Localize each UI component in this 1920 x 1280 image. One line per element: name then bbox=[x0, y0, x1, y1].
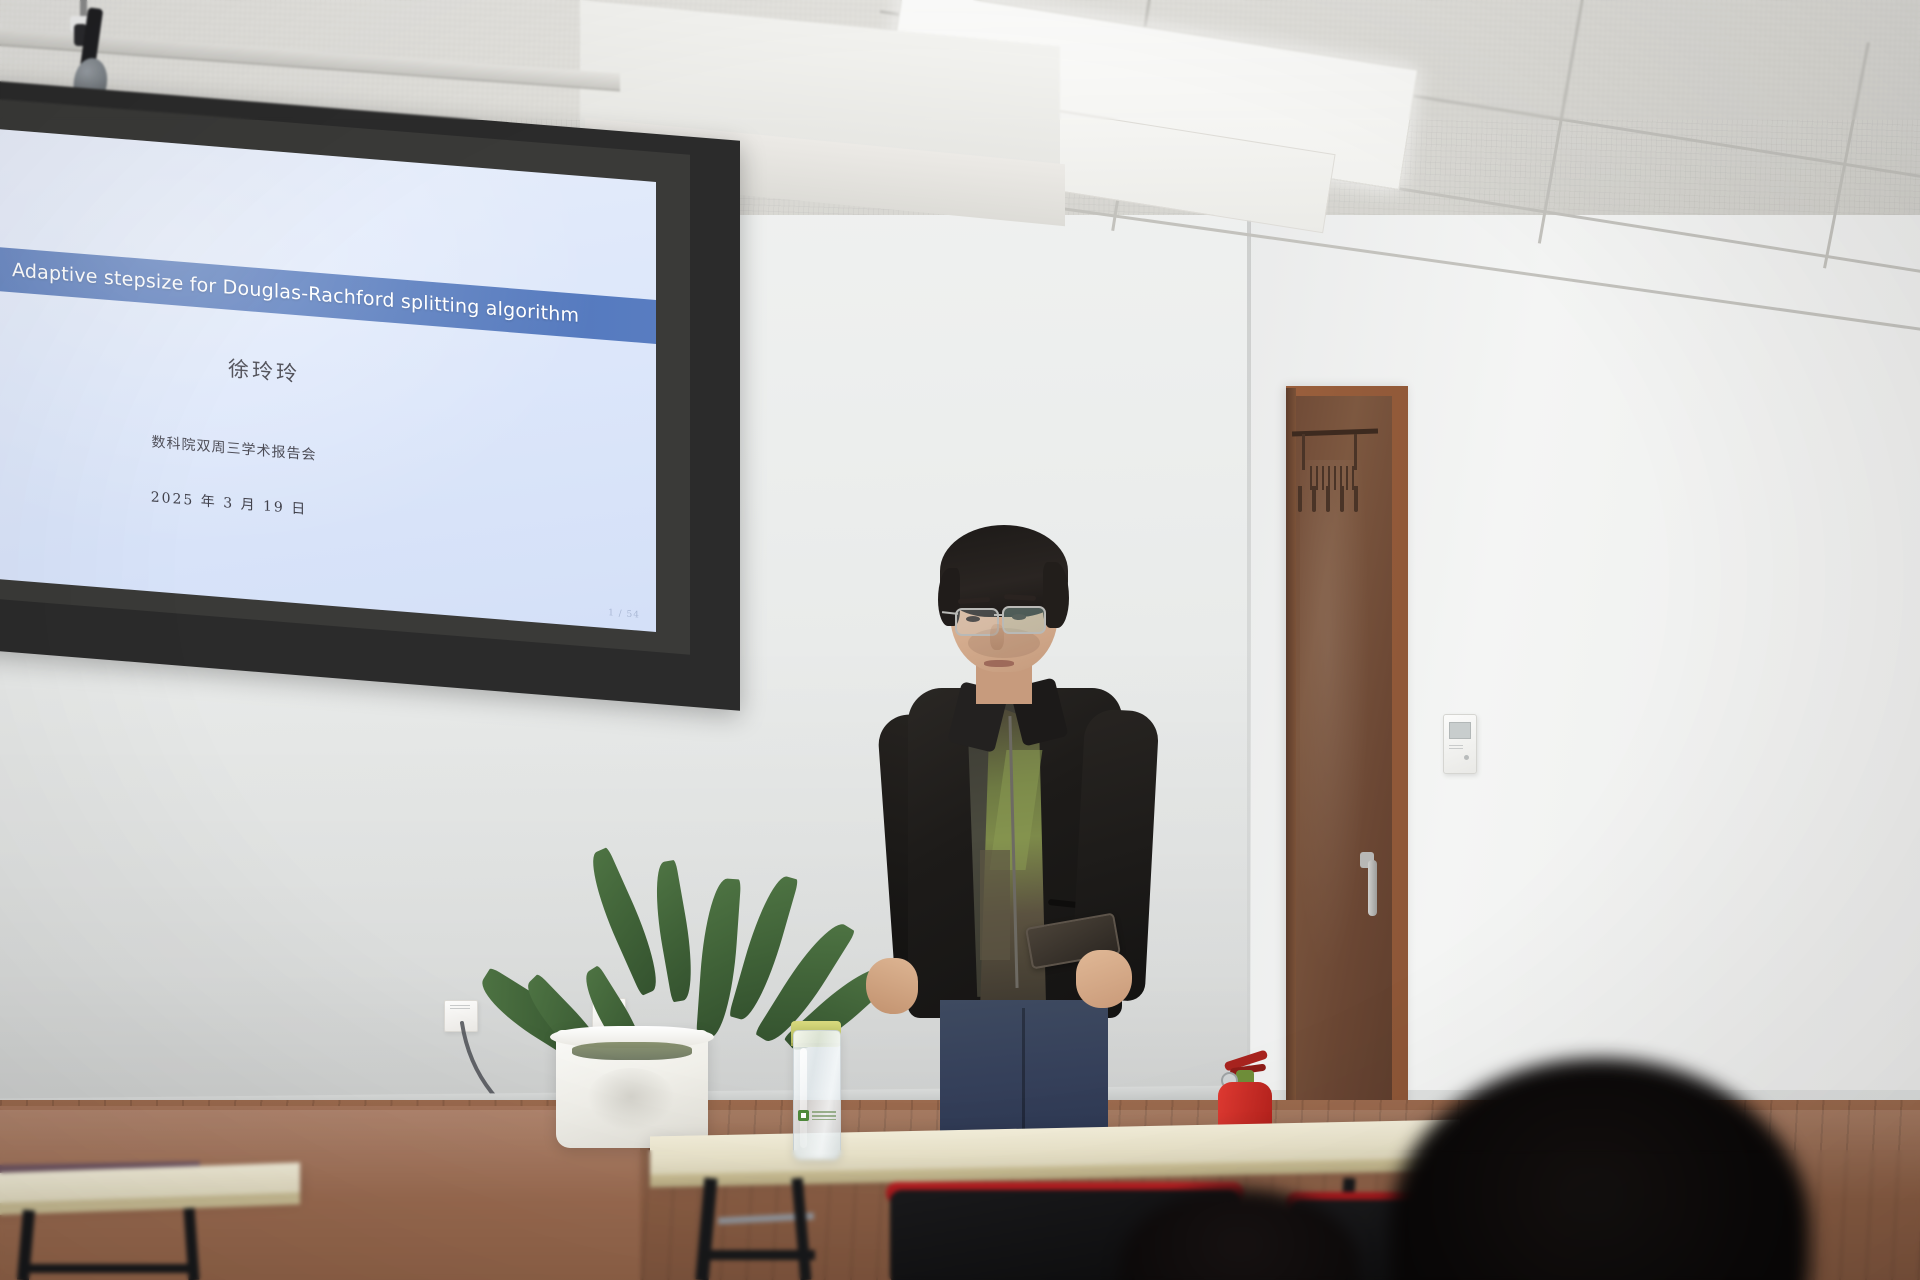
slide-title: Adaptive stepsize for Douglas-Rachford s… bbox=[0, 255, 579, 327]
projection-screen[interactable]: Adaptive stepsize for Douglas-Rachford s… bbox=[0, 78, 740, 711]
slide-date: 2025 年 3 月 19 日 bbox=[0, 473, 474, 532]
presenter bbox=[880, 520, 1160, 1140]
pot-relief-pattern bbox=[586, 1068, 676, 1132]
side-table-foot-rail bbox=[26, 1264, 194, 1273]
hook bbox=[1354, 486, 1358, 512]
ac-display-screen bbox=[1449, 722, 1471, 739]
hook bbox=[1298, 486, 1302, 512]
eyeglasses-bridge bbox=[994, 614, 1004, 616]
lecture-room-scene: Adaptive stepsize for Douglas-Rachford s… bbox=[0, 0, 1920, 1280]
slide-author: 徐玲玲 bbox=[0, 333, 544, 408]
door-handle[interactable] bbox=[1368, 860, 1377, 916]
slide-page-indicator: 1 / 54 bbox=[608, 608, 640, 621]
mouth bbox=[984, 660, 1014, 667]
bottle-brand-glyph bbox=[801, 1113, 806, 1118]
hook bbox=[1340, 486, 1344, 512]
door-highlight bbox=[1300, 460, 1370, 980]
hook bbox=[1312, 486, 1316, 512]
hook-hanger bbox=[1302, 434, 1305, 470]
ac-label-lines bbox=[1449, 745, 1463, 751]
hanging-microphone-icon bbox=[58, 0, 118, 95]
bottle-highlight bbox=[800, 1048, 807, 1148]
bottle-brand-icon bbox=[798, 1110, 809, 1121]
bottle-brand-text bbox=[812, 1111, 836, 1120]
slide-subtitle: 数科院双周三学术报告会 bbox=[0, 418, 484, 478]
nose bbox=[990, 624, 1004, 650]
presenter-left-hand bbox=[866, 958, 918, 1014]
presentation-slide: Adaptive stepsize for Douglas-Rachford s… bbox=[0, 128, 656, 632]
projection-screen-surface: Adaptive stepsize for Douglas-Rachford s… bbox=[0, 97, 690, 655]
hook bbox=[1326, 486, 1330, 512]
slide-title-bar: Adaptive stepsize for Douglas-Rachford s… bbox=[0, 244, 656, 348]
ac-power-button[interactable] bbox=[1464, 755, 1469, 760]
over-door-hook-rack bbox=[1292, 408, 1378, 523]
pot-soil bbox=[572, 1042, 692, 1060]
potted-plant bbox=[600, 830, 890, 1160]
sweater-pattern bbox=[980, 850, 1010, 960]
hook-hanger bbox=[1354, 434, 1357, 470]
table-foot-rail bbox=[700, 1250, 815, 1260]
eyeglasses-lens-right bbox=[1002, 606, 1046, 634]
presenter-right-hand bbox=[1076, 950, 1132, 1008]
hook-rack-panel bbox=[1310, 466, 1358, 490]
bottle-label bbox=[798, 1110, 834, 1128]
ac-control-panel[interactable] bbox=[1443, 714, 1477, 774]
